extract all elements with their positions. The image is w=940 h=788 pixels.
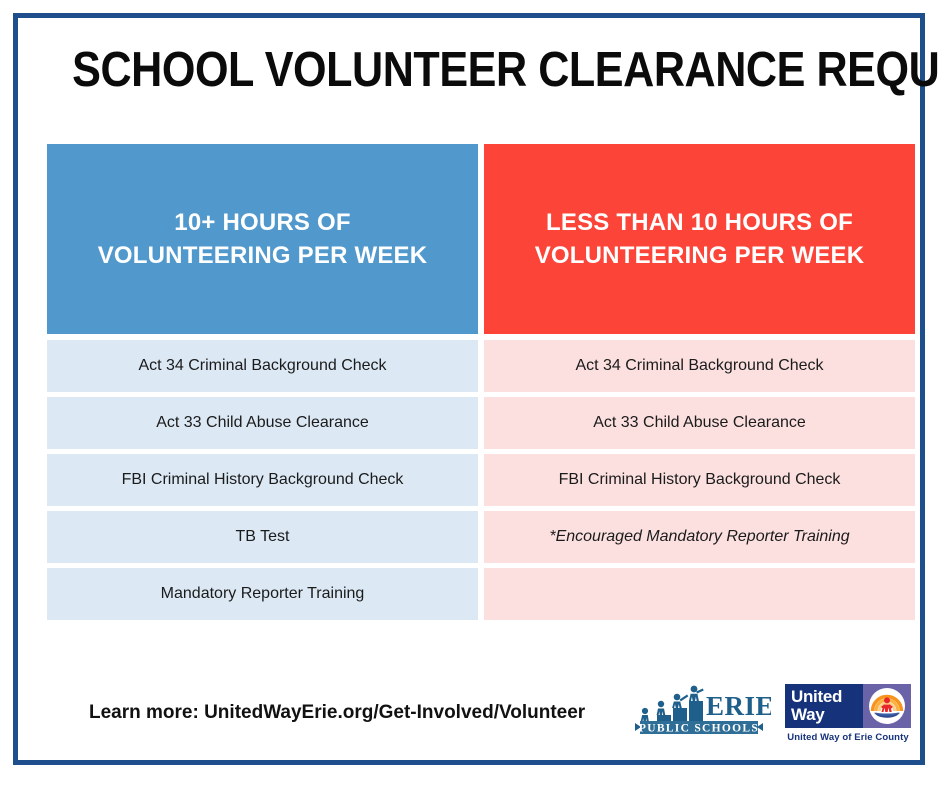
requirement-cell: Act 33 Child Abuse Clearance xyxy=(47,397,478,449)
column-header-line1: LESS THAN 10 HOURS OF xyxy=(535,206,865,239)
united-way-word-1: United xyxy=(791,688,863,706)
requirement-cell: Act 34 Criminal Background Check xyxy=(47,340,478,392)
svg-text:ERIE'S: ERIE'S xyxy=(706,691,771,721)
footer: Learn more: UnitedWayErie.org/Get-Involv… xyxy=(47,673,915,753)
column-header-line2: VOLUNTEERING PER WEEK xyxy=(98,239,428,272)
table-body: Act 34 Criminal Background Check Act 34 … xyxy=(47,340,915,620)
requirement-cell: FBI Criminal History Background Check xyxy=(484,454,915,506)
logo-group: ERIE'S PUBLIC SCHOOLS United Way xyxy=(627,682,915,744)
table-header-row: 10+ HOURS OF VOLUNTEERING PER WEEK LESS … xyxy=(47,144,915,334)
column-header-10plus-hours: 10+ HOURS OF VOLUNTEERING PER WEEK xyxy=(47,144,478,334)
column-header-line2: VOLUNTEERING PER WEEK xyxy=(535,239,865,272)
requirement-cell: FBI Criminal History Background Check xyxy=(47,454,478,506)
eries-public-schools-logo: ERIE'S PUBLIC SCHOOLS xyxy=(627,682,771,744)
united-way-caption: United Way of Erie County xyxy=(787,732,908,743)
page-title: SCHOOL VOLUNTEER CLEARANCE REQUIREMENTS xyxy=(72,44,866,96)
rainbow-hand-person-icon xyxy=(868,687,906,725)
column-header-less-than-10-hours: LESS THAN 10 HOURS OF VOLUNTEERING PER W… xyxy=(484,144,915,334)
requirement-cell: Act 34 Criminal Background Check xyxy=(484,340,915,392)
column-header-line1: 10+ HOURS OF xyxy=(98,206,428,239)
requirement-cell: Act 33 Child Abuse Clearance xyxy=(484,397,915,449)
learn-more-text[interactable]: Learn more: UnitedWayErie.org/Get-Involv… xyxy=(89,702,585,724)
united-way-logo: United Way xyxy=(785,684,911,743)
table-row: TB Test *Encouraged Mandatory Reporter T… xyxy=(47,511,915,563)
poster-root: SCHOOL VOLUNTEER CLEARANCE REQUIREMENTS … xyxy=(0,0,940,788)
united-way-word-2: Way xyxy=(791,706,863,724)
requirements-table: 10+ HOURS OF VOLUNTEERING PER WEEK LESS … xyxy=(47,144,915,625)
united-way-wordmark: United Way xyxy=(785,684,863,728)
table-row: Act 34 Criminal Background Check Act 34 … xyxy=(47,340,915,392)
table-row: FBI Criminal History Background Check FB… xyxy=(47,454,915,506)
united-way-mark xyxy=(863,684,911,728)
requirement-cell: TB Test xyxy=(47,511,478,563)
poster-frame: SCHOOL VOLUNTEER CLEARANCE REQUIREMENTS … xyxy=(13,13,925,765)
united-way-lockup: United Way xyxy=(785,684,911,728)
requirement-cell-encouraged: *Encouraged Mandatory Reporter Training xyxy=(484,511,915,563)
table-row: Mandatory Reporter Training xyxy=(47,568,915,620)
requirement-cell-empty xyxy=(484,568,915,620)
table-row: Act 33 Child Abuse Clearance Act 33 Chil… xyxy=(47,397,915,449)
svg-text:PUBLIC SCHOOLS: PUBLIC SCHOOLS xyxy=(639,723,759,735)
requirement-cell: Mandatory Reporter Training xyxy=(47,568,478,620)
